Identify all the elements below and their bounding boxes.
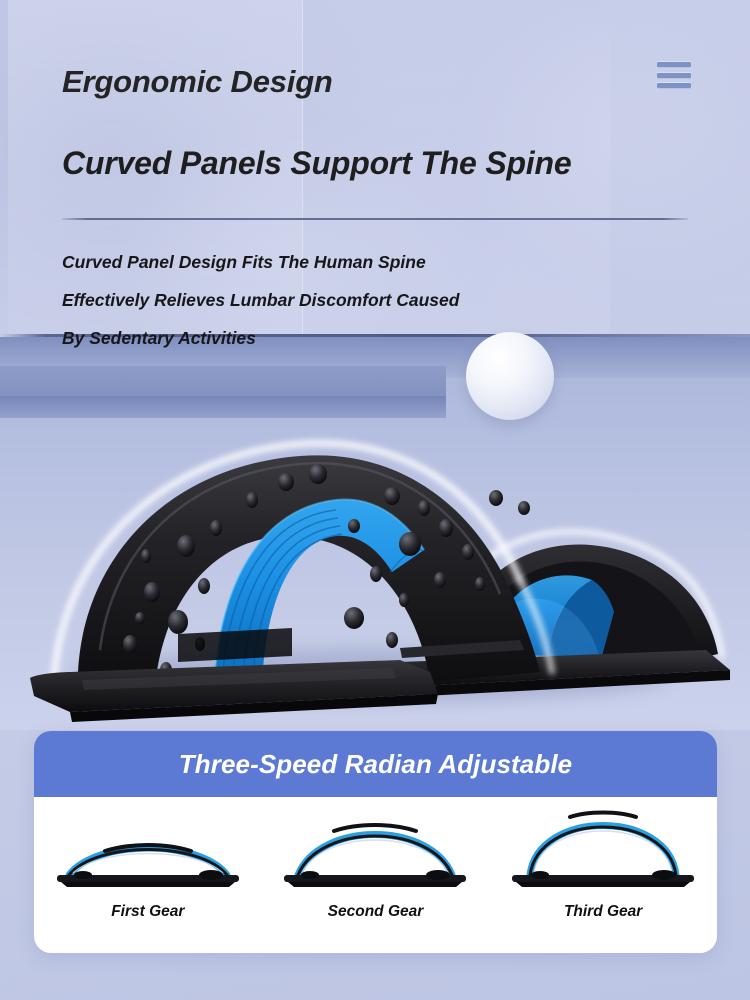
gear-arch-illustration-third [508,809,698,895]
hamburger-bar-middle [657,72,691,79]
gear-arch-illustration-first [53,809,243,895]
three-speed-card-body: First Gear Second Gear [34,797,717,953]
feature-description: Curved Panel Design Fits The Human Spine… [62,243,662,357]
hamburger-bar-bottom [657,82,691,89]
three-speed-card-header: Three-Speed Radian Adjustable [34,731,717,797]
gear-label-second: Second Gear [328,903,424,921]
gear-label-third: Third Gear [564,903,642,921]
feature-description-line-3: By Sedentary Activities [62,319,662,357]
three-speed-card: Three-Speed Radian Adjustable [34,731,717,953]
page-eyebrow-title: Ergonomic Design [62,64,333,100]
hamburger-bar-top [657,61,691,68]
three-speed-card-title: Three-Speed Radian Adjustable [179,749,572,780]
gear-option-second[interactable]: Second Gear [275,809,475,921]
hamburger-menu-icon[interactable] [657,59,693,91]
gear-arch-illustration-second [280,809,470,895]
gear-label-first: First Gear [111,903,184,921]
product-image [0,404,750,730]
product-marketing-page: Ergonomic Design Curved Panels Support T… [0,0,750,1000]
feature-description-line-2: Effectively Relieves Lumbar Discomfort C… [62,281,662,319]
gear-option-third[interactable]: Third Gear [503,809,703,921]
feature-description-line-1: Curved Panel Design Fits The Human Spine [62,243,662,281]
page-title: Curved Panels Support The Spine [62,145,571,182]
gear-option-first[interactable]: First Gear [48,809,248,921]
title-divider [62,218,688,220]
